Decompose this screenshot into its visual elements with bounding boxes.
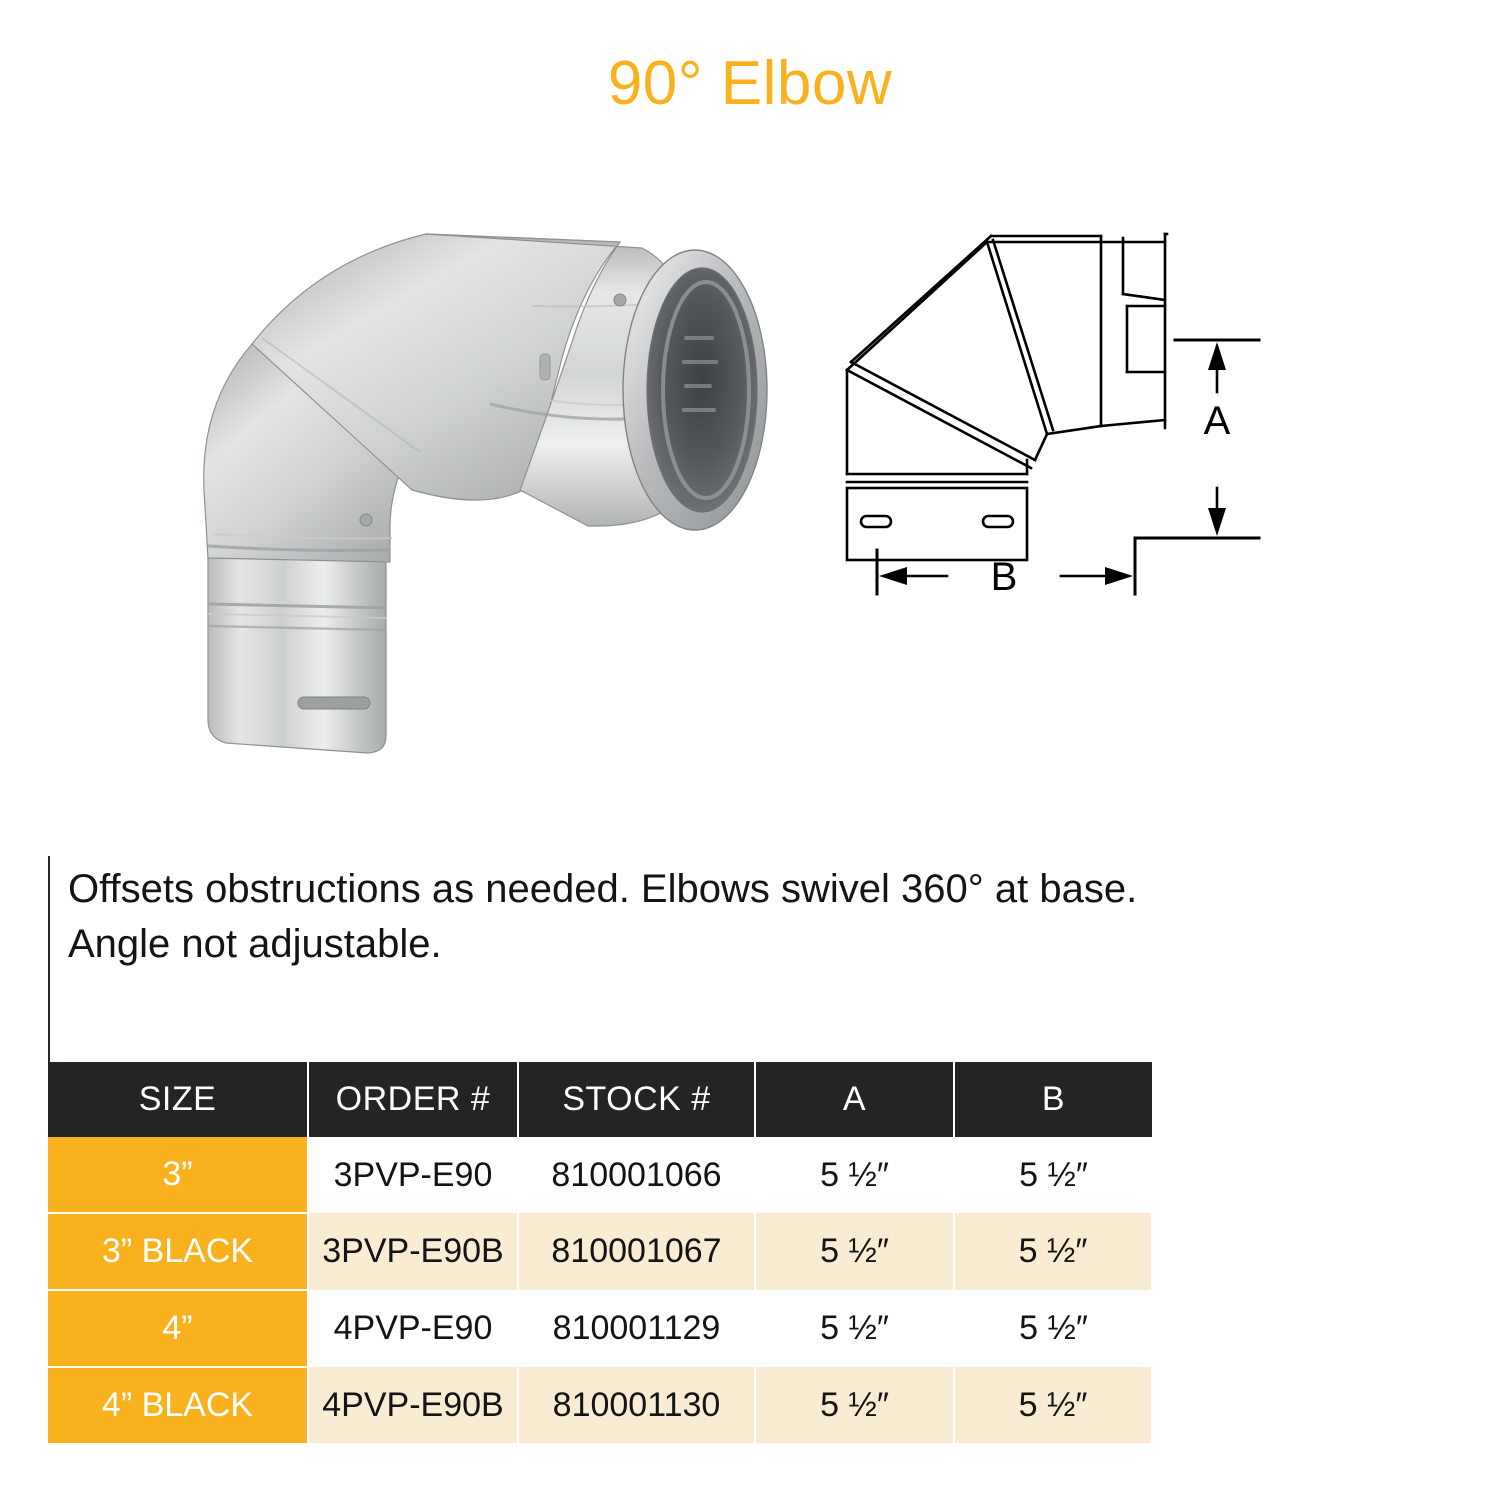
cell-order: 4PVP-E90: [308, 1290, 518, 1367]
table-row: 4” BLACK 4PVP-E90B 810001130 5 ½″ 5 ½″: [48, 1367, 1152, 1443]
dimension-label-b: B: [991, 555, 1018, 599]
cell-b: 5 ½″: [954, 1290, 1152, 1367]
table-row: 4” 4PVP-E90 810001129 5 ½″ 5 ½″: [48, 1290, 1152, 1367]
spec-table: SIZE ORDER # STOCK # A B 3” 3PVP-E90 810…: [48, 1062, 1153, 1443]
cell-stock: 810001129: [518, 1290, 755, 1367]
table-header-row: SIZE ORDER # STOCK # A B: [48, 1062, 1152, 1137]
column-header-order: ORDER #: [308, 1062, 518, 1137]
cell-a: 5 ½″: [755, 1137, 954, 1213]
cell-a: 5 ½″: [755, 1213, 954, 1290]
left-accent-rule: [48, 856, 50, 1062]
column-header-size: SIZE: [48, 1062, 308, 1137]
product-description: Offsets obstructions as needed. Elbows s…: [68, 862, 1448, 972]
table-header: SIZE ORDER # STOCK # A B: [48, 1062, 1152, 1137]
cell-size: 4” BLACK: [48, 1367, 308, 1443]
dimension-label-a: A: [1204, 399, 1231, 443]
technical-drawing: A B: [835, 220, 1275, 620]
cell-b: 5 ½″: [954, 1367, 1152, 1443]
cell-stock: 810001130: [518, 1367, 755, 1443]
cell-size: 4”: [48, 1290, 308, 1367]
cell-size: 3”: [48, 1137, 308, 1213]
cell-a: 5 ½″: [755, 1367, 954, 1443]
column-header-b: B: [954, 1062, 1152, 1137]
cell-size: 3” BLACK: [48, 1213, 308, 1290]
product-photo: [190, 190, 790, 790]
cell-b: 5 ½″: [954, 1137, 1152, 1213]
cell-order: 3PVP-E90: [308, 1137, 518, 1213]
page-title: 90° Elbow: [0, 48, 1500, 119]
cell-b: 5 ½″: [954, 1213, 1152, 1290]
description-line-1: Offsets obstructions as needed. Elbows s…: [68, 862, 1448, 917]
cell-stock: 810001067: [518, 1213, 755, 1290]
cell-a: 5 ½″: [755, 1290, 954, 1367]
figure-band: A B: [0, 180, 1500, 820]
table-row: 3” 3PVP-E90 810001066 5 ½″ 5 ½″: [48, 1137, 1152, 1213]
table-row: 3” BLACK 3PVP-E90B 810001067 5 ½″ 5 ½″: [48, 1213, 1152, 1290]
column-header-stock: STOCK #: [518, 1062, 755, 1137]
table-body: 3” 3PVP-E90 810001066 5 ½″ 5 ½″ 3” BLACK…: [48, 1137, 1152, 1443]
cell-order: 3PVP-E90B: [308, 1213, 518, 1290]
column-header-a: A: [755, 1062, 954, 1137]
description-line-2: Angle not adjustable.: [68, 917, 1448, 972]
cell-stock: 810001066: [518, 1137, 755, 1213]
cell-order: 4PVP-E90B: [308, 1367, 518, 1443]
